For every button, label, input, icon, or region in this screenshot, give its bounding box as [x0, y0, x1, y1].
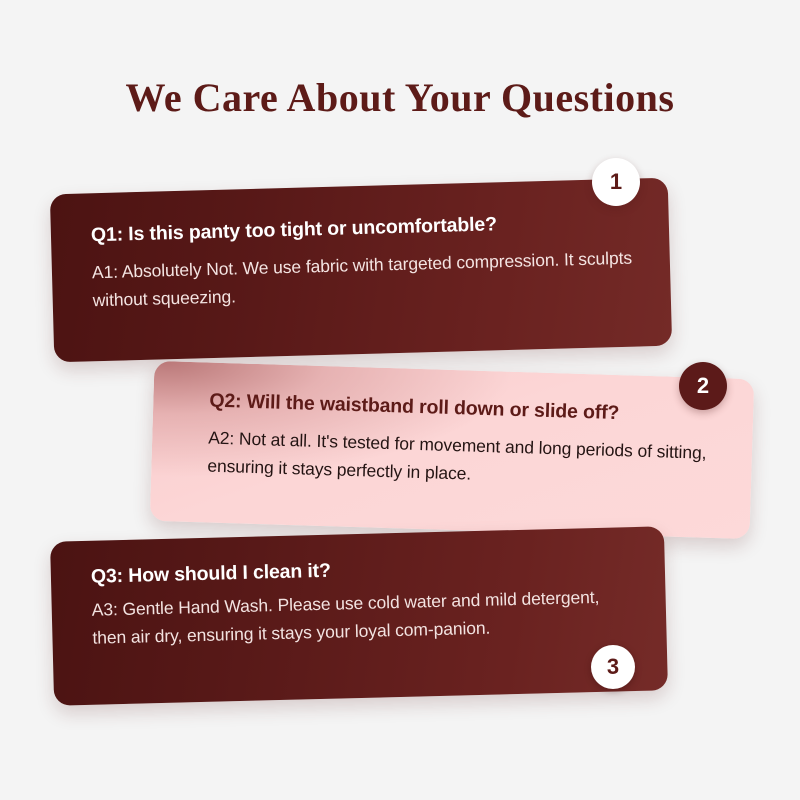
faq-question-1: Q1: Is this panty too tight or uncomfort… — [91, 209, 635, 248]
faq-card-2[interactable]: Q2: Will the waistband roll down or slid… — [150, 361, 755, 539]
faq-card-3-content: Q3: How should I clean it? A3: Gentle Ha… — [50, 526, 668, 705]
faq-page: We Care About Your Questions Q1: Is this… — [0, 0, 800, 800]
faq-number-badge-2: 2 — [679, 362, 727, 410]
faq-question-2: Q2: Will the waistband roll down or slid… — [209, 389, 720, 429]
faq-card-1[interactable]: Q1: Is this panty too tight or uncomfort… — [50, 178, 672, 363]
faq-card-1-content: Q1: Is this panty too tight or uncomfort… — [50, 178, 672, 363]
faq-answer-1: A1: Absolutely Not. We use fabric with t… — [92, 245, 637, 314]
faq-card-3[interactable]: Q3: How should I clean it? A3: Gentle Ha… — [50, 526, 668, 705]
faq-answer-3: A3: Gentle Hand Wash. Please use cold wa… — [91, 583, 636, 651]
faq-card-2-content: Q2: Will the waistband roll down or slid… — [150, 361, 755, 539]
faq-number-badge-3: 3 — [591, 645, 635, 689]
faq-number-badge-1: 1 — [592, 158, 640, 206]
faq-answer-2: A2: Not at all. It's tested for movement… — [207, 425, 718, 495]
page-title: We Care About Your Questions — [0, 74, 800, 121]
faq-question-3: Q3: How should I clean it? — [91, 551, 635, 589]
